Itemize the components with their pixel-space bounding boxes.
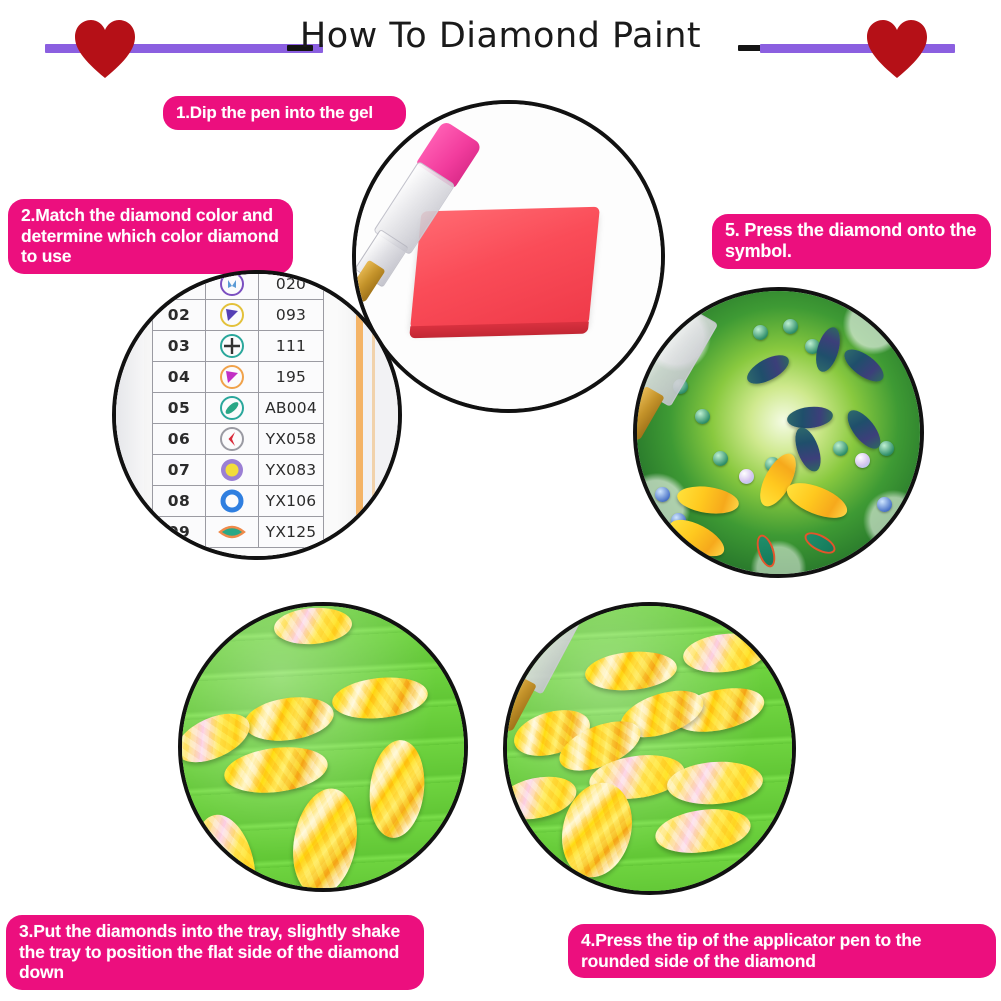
chart-number-cell: 05 [153, 393, 206, 424]
color-chart-table: 01 02002 09303 11104 19505 AB00406 YX058… [152, 270, 324, 548]
step-5-photo [633, 287, 924, 578]
step-2-photo: 01 02002 09303 11104 19505 AB00406 YX058… [112, 270, 402, 560]
table-row: 01 020 [153, 270, 324, 300]
page-title: How To Diamond Paint [0, 16, 1001, 56]
header: How To Diamond Paint [0, 0, 1001, 90]
step-4-photo [503, 602, 796, 895]
chart-spine-secondary [372, 270, 375, 560]
slash-oval-icon [206, 393, 259, 424]
table-row: 03 111 [153, 331, 324, 362]
ring-icon [206, 486, 259, 517]
chart-number-cell: 09 [153, 517, 206, 548]
table-row: 07 YX083 [153, 455, 324, 486]
table-row: 06 YX058 [153, 424, 324, 455]
step-5-label: 5. Press the diamond onto the symbol. [712, 214, 991, 269]
chevron-left-icon [206, 424, 259, 455]
double-teardrop-icon [206, 270, 259, 300]
table-row: 09 YX125 [153, 517, 324, 548]
chart-code-cell: 020 [259, 270, 324, 300]
table-row: 05 AB004 [153, 393, 324, 424]
triangle-icon [206, 300, 259, 331]
filled-dot-icon [206, 455, 259, 486]
step-3-photo [178, 602, 468, 892]
chart-number-cell: 06 [153, 424, 206, 455]
gel-square [410, 207, 600, 330]
step-2-label: 2.Match the diamond color and determine … [8, 199, 293, 274]
mandala-canvas [637, 291, 920, 574]
chart-code-cell: AB004 [259, 393, 324, 424]
table-row: 04 195 [153, 362, 324, 393]
table-row: 08 YX106 [153, 486, 324, 517]
triangle-icon [206, 362, 259, 393]
chart-code-cell: 195 [259, 362, 324, 393]
chart-code-cell: 093 [259, 300, 324, 331]
chart-code-cell: 111 [259, 331, 324, 362]
chart-number-cell: 07 [153, 455, 206, 486]
step-3-label: 3.Put the diamonds into the tray, slight… [6, 915, 424, 990]
chart-code-cell: YX083 [259, 455, 324, 486]
chart-number-cell: 08 [153, 486, 206, 517]
table-row: 02 093 [153, 300, 324, 331]
step-1-photo [352, 100, 665, 413]
marquise-icon [206, 517, 259, 548]
chart-code-cell: YX125 [259, 517, 324, 548]
step-4-label: 4.Press the tip of the applicator pen to… [568, 924, 996, 978]
chart-number-cell: 02 [153, 300, 206, 331]
chart-code-cell: YX058 [259, 424, 324, 455]
plus-icon [206, 331, 259, 362]
chart-number-cell: 03 [153, 331, 206, 362]
chart-code-cell: YX106 [259, 486, 324, 517]
chart-number-cell: 04 [153, 362, 206, 393]
chart-number-cell: 01 [153, 270, 206, 300]
chart-spine [356, 270, 363, 560]
infographic-page: How To Diamond Paint 1.Dip the pen into … [0, 0, 1001, 1001]
